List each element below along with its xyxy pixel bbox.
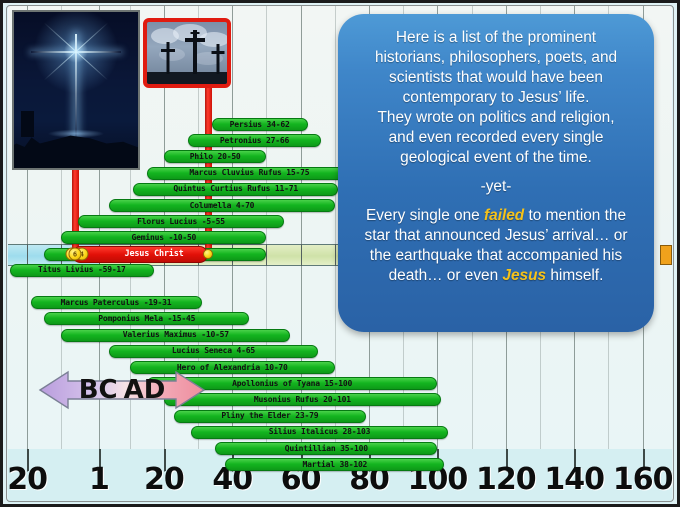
star-of-bethlehem-image	[12, 10, 140, 170]
explanation-callout: Here is a list of the prominent historia…	[338, 14, 654, 332]
timeline-bar-label: Florus Lucius -5-55	[137, 218, 225, 226]
callout-line-2: historians, philosophers, poets, and	[375, 49, 617, 66]
timeline-bar[interactable]: Philo 20-50	[164, 150, 267, 163]
timeline-bar-label: Marcus Paterculus -19-31	[61, 299, 172, 307]
timeline-bar[interactable]: Quintus Curtius Rufus 11-71	[133, 183, 338, 196]
callout-line-8a: Every single one	[366, 207, 484, 224]
callout-line-3: scientists that would have been	[389, 69, 603, 86]
timeline-bar[interactable]: Petronius 27-66	[188, 134, 321, 147]
timeline-bar[interactable]: Geminus -10-50	[61, 231, 266, 244]
timeline-bar-label: Titus Livius -59-17	[38, 266, 126, 274]
timeline-bar[interactable]: Titus Livius -59-17	[10, 264, 154, 277]
timeline-bar[interactable]: Quintillian 35-100	[215, 442, 437, 455]
timeline-bar-label: Musonius Rufus 20-101	[254, 396, 351, 404]
era-tick	[27, 244, 28, 266]
timeline-bar[interactable]: Valerius Maximus -10-57	[61, 329, 290, 342]
era-tick	[266, 244, 267, 266]
callout-paragraph-1: Here is a list of the prominent historia…	[354, 28, 638, 168]
timeline-bar-label: Apollonius of Tyana 15-100	[232, 380, 352, 388]
timeline-bar[interactable]: Marcus Cluvius Rufus 15-75	[147, 167, 352, 180]
timeline-bar-label: Quintillian 35-100	[285, 445, 368, 453]
cross-center-icon	[185, 30, 205, 74]
callout-failed-emphasis: failed	[484, 207, 524, 224]
timeline-bar-label: Silius Italicus 28-103	[269, 428, 371, 436]
three-crosses-image	[143, 18, 231, 88]
axis-tick-label: 20	[7, 462, 47, 497]
callout-line-8b: to mention the	[524, 207, 626, 224]
cross-right-icon	[211, 44, 224, 74]
timeline-bar-label: Quintus Curtius Rufus 11-71	[173, 185, 298, 193]
callout-line-10: the earthquake that accompanied his	[370, 247, 622, 264]
axis-tick-label: 160	[613, 462, 673, 497]
era-tick	[335, 244, 336, 266]
callout-line-5: They wrote on politics and religion,	[378, 109, 615, 126]
bc-ad-arrow-text: BC AD	[38, 368, 206, 412]
timeline-bar[interactable]: Florus Lucius -5-55	[78, 215, 283, 228]
timeline-bar-label: Columella 4-70	[190, 202, 255, 210]
jesus-christ-bar[interactable]: Jesus Christ	[72, 246, 209, 263]
bc-label: BC	[76, 375, 121, 405]
timeline-bar-label: Valerius Maximus -10-57	[123, 331, 229, 339]
timeline-bar[interactable]: Lucius Seneca 4-65	[109, 345, 318, 358]
timeline-bar-label: Pomponius Mela -15-45	[98, 315, 195, 323]
callout-yet: -yet-	[354, 177, 638, 197]
axis-tick-label: 20	[144, 462, 184, 497]
axis-tick-label: 140	[544, 462, 604, 497]
callout-line-11a: death… or even	[389, 267, 503, 284]
timeline-bar[interactable]: Persius 34-62	[212, 118, 308, 131]
timeline-bar-label: Geminus -10-50	[132, 234, 197, 242]
right-edge-marker	[660, 245, 672, 265]
callout-line-6: and even recorded every single	[389, 129, 604, 146]
timeline-bar-label: Martial 38-102	[303, 461, 368, 469]
cross-left-icon	[161, 42, 175, 74]
timeline-bar-label: Marcus Cluvius Rufus 15-75	[189, 169, 309, 177]
tower-silhouette	[21, 111, 34, 137]
ad-label: AD	[121, 375, 169, 405]
timeline-bar[interactable]: Martial 38-102	[225, 458, 444, 471]
callout-line-4: contemporary to Jesus’ life.	[403, 89, 590, 106]
callout-jesus-emphasis: Jesus	[502, 267, 546, 284]
year-marker-dot[interactable]: 6	[68, 248, 81, 261]
axis-tick-label: 120	[476, 462, 536, 497]
jesus-christ-label: Jesus Christ	[125, 250, 184, 259]
timeline-bar-label: Lucius Seneca 4-65	[172, 347, 255, 355]
slide-canvas: 20120406080100120140160 Persius 34-62Pet…	[0, 0, 680, 507]
axis-tick-label: 1	[89, 462, 109, 497]
timeline-bar-label: Pliny the Elder 23-79	[221, 412, 318, 420]
callout-paragraph-2: Every single one failed to mention the s…	[354, 206, 638, 286]
callout-line-11b: himself.	[546, 267, 603, 284]
timeline-bar-label: Persius 34-62	[230, 121, 290, 129]
callout-line-1: Here is a list of the prominent	[396, 29, 596, 46]
timeline-bar[interactable]: Columella 4-70	[109, 199, 335, 212]
callout-line-7: geological event of the time.	[400, 149, 592, 166]
death-marker-dot[interactable]	[203, 249, 213, 259]
timeline-bar-label: Philo 20-50	[190, 153, 241, 161]
timeline-bar[interactable]: Pomponius Mela -15-45	[44, 312, 249, 325]
timeline-bar[interactable]: Marcus Paterculus -19-31	[31, 296, 202, 309]
callout-line-9: star that announced Jesus’ arrival… or	[365, 227, 628, 244]
era-tick	[301, 244, 302, 266]
bc-ad-arrow: BC AD	[38, 368, 206, 412]
timeline-bar[interactable]: Silius Italicus 28-103	[191, 426, 447, 439]
timeline-bar-label: Petronius 27-66	[220, 137, 289, 145]
